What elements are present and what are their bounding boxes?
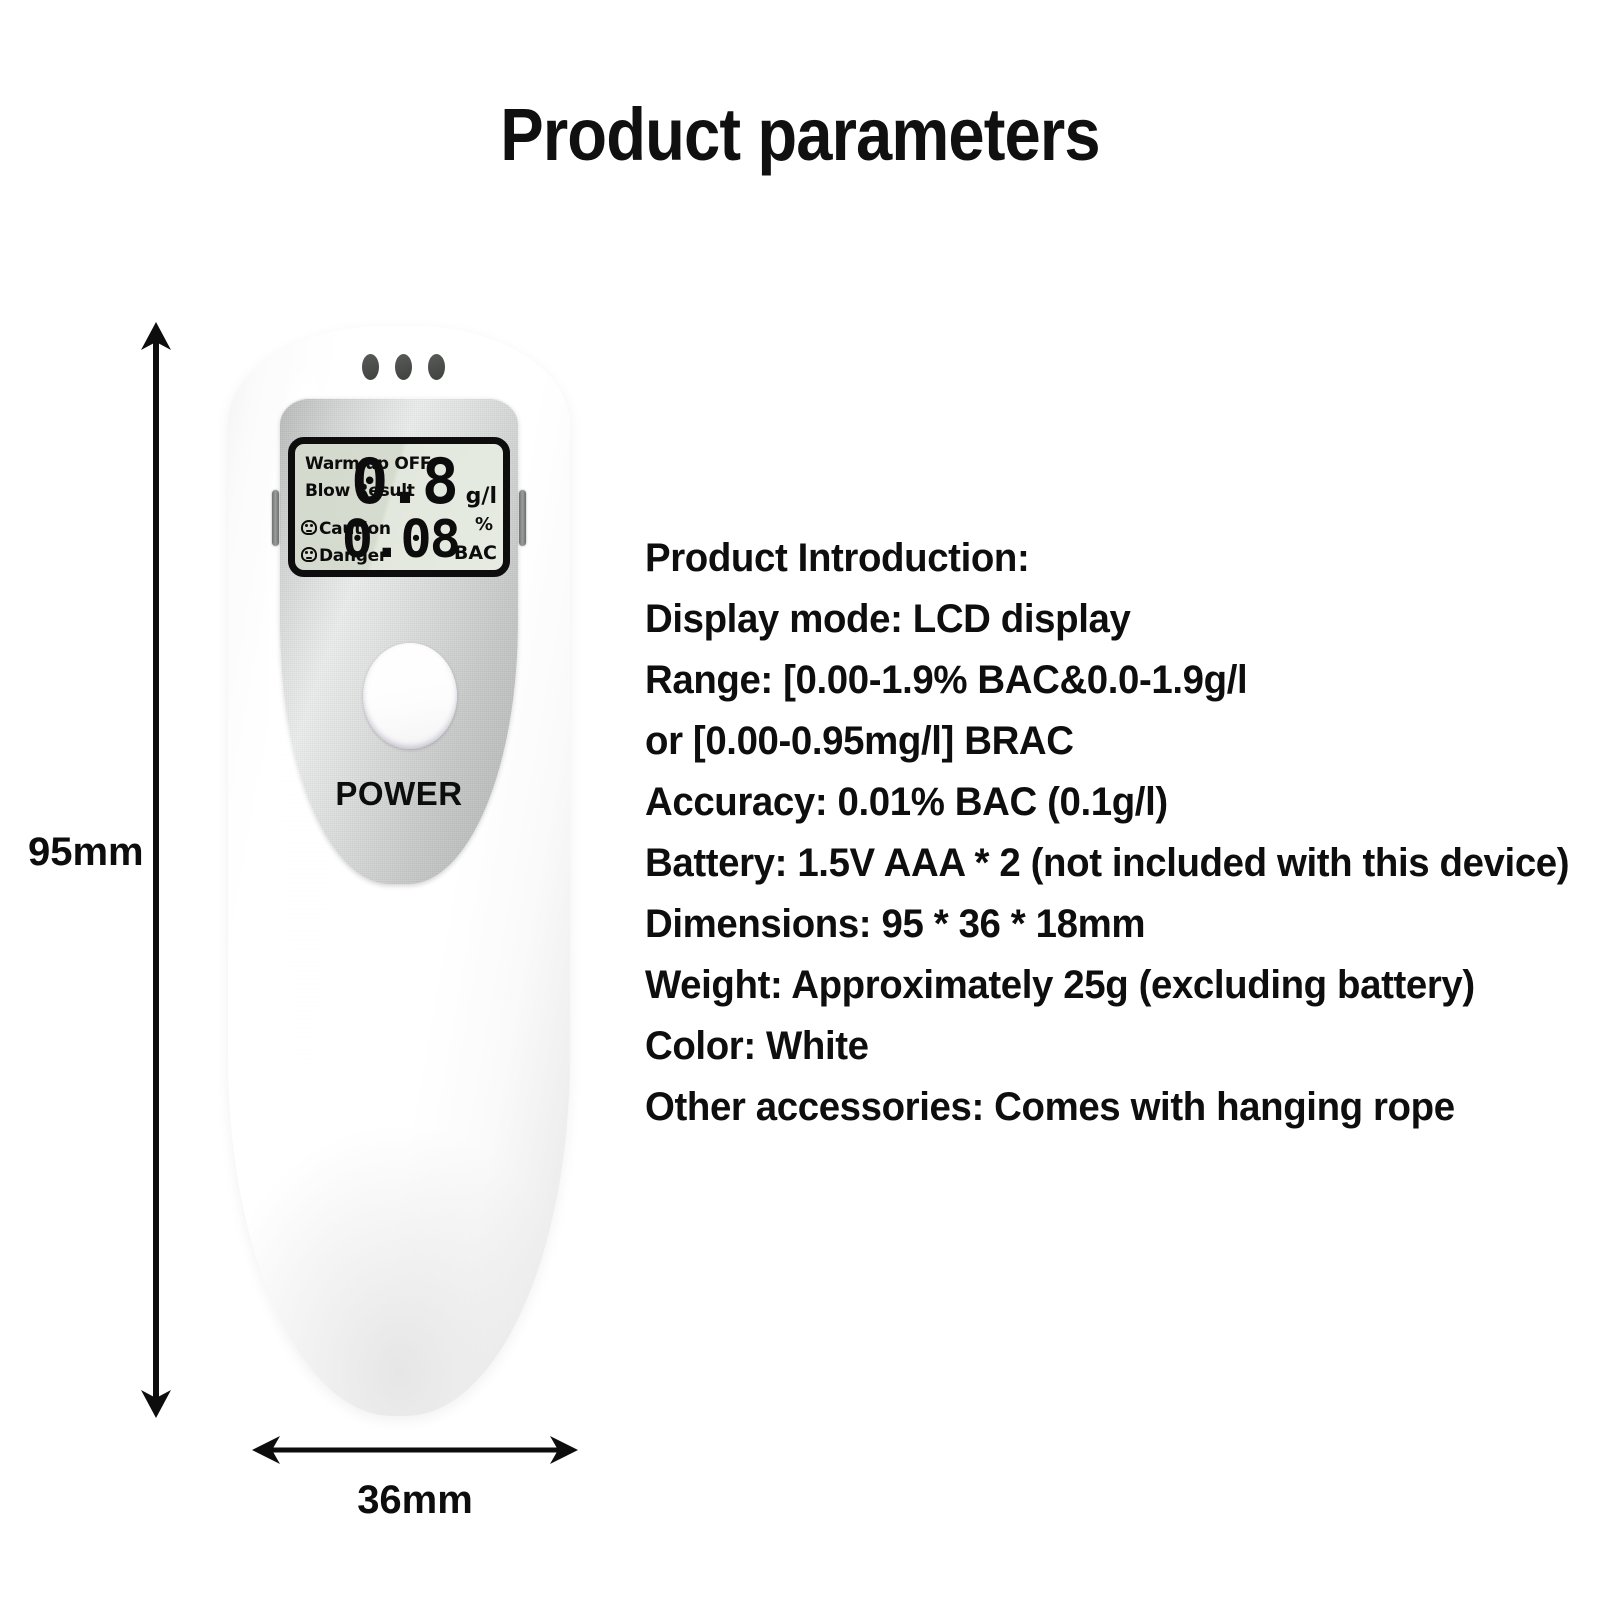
- height-dimension-label: 95mm: [28, 830, 144, 875]
- lcd-screen: Warm up OFF Blow Result Caution Danger 0…: [288, 437, 510, 577]
- power-button-label: POWER: [280, 775, 518, 813]
- spec-list: Product Introduction: Display mode: LCD …: [645, 528, 1580, 1138]
- spec-line: Range: [0.00-1.9% BAC&0.0-1.9g/l: [645, 650, 1543, 711]
- spec-line: Dimensions: 95 * 36 * 18mm: [645, 894, 1543, 955]
- danger-face-icon: [301, 547, 317, 562]
- side-slot-left[interactable]: [272, 490, 279, 546]
- vent-group: [362, 354, 458, 382]
- lcd-main-unit: g/l: [466, 486, 497, 508]
- spec-line: Accuracy: 0.01% BAC (0.1g/l): [645, 772, 1543, 833]
- spec-line: Battery: 1.5V AAA * 2 (not included with…: [645, 833, 1543, 894]
- side-slot-right[interactable]: [519, 490, 526, 546]
- spec-line: Color: White: [645, 1016, 1543, 1077]
- spec-line: Product Introduction:: [645, 528, 1543, 589]
- width-dimension-arrow: [250, 1430, 580, 1470]
- width-dimension-label: 36mm: [250, 1478, 580, 1523]
- spec-line: Other accessories: Comes with hanging ro…: [645, 1077, 1543, 1138]
- vent-hole-icon: [395, 354, 412, 380]
- caution-face-icon: [301, 520, 317, 535]
- spec-line: Weight: Approximately 25g (excluding bat…: [645, 955, 1543, 1016]
- lcd-bac-unit-label: BAC: [454, 544, 497, 563]
- power-button[interactable]: [363, 643, 457, 749]
- device-figure: Warm up OFF Blow Result Caution Danger 0…: [0, 0, 700, 1600]
- lcd-bac-reading: 0.08: [342, 514, 459, 566]
- lcd-content: Warm up OFF Blow Result Caution Danger 0…: [295, 444, 503, 570]
- spec-line: Display mode: LCD display: [645, 589, 1543, 650]
- spec-line: or [0.00-0.95mg/l] BRAC: [645, 711, 1543, 772]
- lcd-main-reading: 0.8: [351, 451, 457, 513]
- lcd-bac-unit-percent: %: [475, 516, 493, 534]
- vent-hole-icon: [362, 354, 379, 380]
- vent-hole-icon: [428, 354, 445, 380]
